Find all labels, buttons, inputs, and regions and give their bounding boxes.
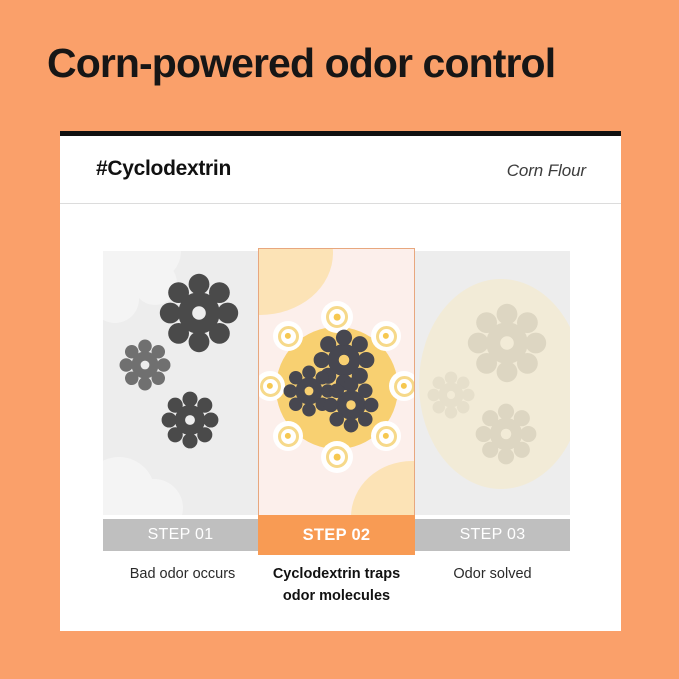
panel-step-02 bbox=[258, 248, 415, 520]
step-badge-03[interactable]: STEP 03 bbox=[415, 519, 570, 551]
cyclodextrin-ring bbox=[321, 441, 353, 473]
step-caption-02-line1: Cyclodextrin traps bbox=[251, 563, 422, 585]
step-captions: Bad odor occurs Cyclodextrin traps odor … bbox=[103, 563, 570, 623]
step-bar: STEP 01 STEP 02 STEP 03 bbox=[103, 515, 570, 555]
step-badge-02[interactable]: STEP 02 bbox=[258, 515, 415, 555]
trapped-odor-molecule bbox=[323, 377, 379, 433]
odor-molecule bbox=[161, 391, 219, 449]
cyclodextrin-ring bbox=[273, 321, 303, 351]
odor-molecule bbox=[119, 339, 171, 391]
neutralized-odor-molecule bbox=[475, 403, 537, 465]
step-caption-02: Cyclodextrin traps odor molecules bbox=[251, 563, 422, 608]
info-card: #Cyclodextrin Corn Flour bbox=[60, 131, 621, 631]
panel-step-03 bbox=[415, 251, 570, 515]
hashtag-label: #Cyclodextrin bbox=[96, 157, 231, 181]
cyclodextrin-ring bbox=[389, 371, 415, 401]
illustration-panels bbox=[103, 248, 570, 538]
cyclodextrin-ring bbox=[371, 321, 401, 351]
background-blob bbox=[258, 248, 333, 315]
odor-molecule bbox=[159, 273, 239, 353]
card-header: #Cyclodextrin Corn Flour bbox=[60, 136, 621, 204]
ingredient-label: Corn Flour bbox=[507, 161, 586, 181]
neutralized-odor-molecule bbox=[467, 303, 547, 383]
panel-step-01 bbox=[103, 251, 258, 515]
cyclodextrin-ring bbox=[273, 421, 303, 451]
step-badge-01[interactable]: STEP 01 bbox=[103, 519, 258, 551]
step-caption-03: Odor solved bbox=[411, 563, 574, 585]
step-caption-02-line2: odor molecules bbox=[251, 585, 422, 607]
step-caption-01: Bad odor occurs bbox=[99, 563, 266, 585]
page-title: Corn-powered odor control bbox=[47, 40, 647, 87]
neutralized-odor-molecule bbox=[427, 371, 475, 419]
background-blob bbox=[351, 461, 415, 520]
